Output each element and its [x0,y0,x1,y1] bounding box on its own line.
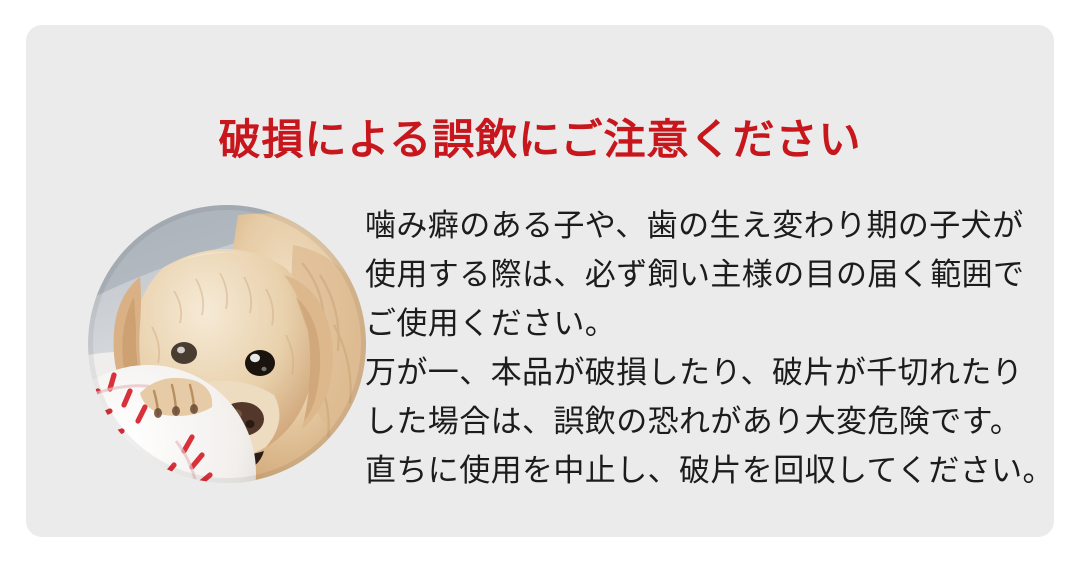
notice-line: 使用する際は、必ず飼い主様の目の届く範囲で [365,250,1030,299]
notice-card: 破損による誤飲にご注意ください [26,25,1054,537]
notice-body-text: 噛み癖のある子や、歯の生え変わり期の子犬が 使用する際は、必ず飼い主様の目の届く… [365,201,1030,495]
dog-photo-circle [88,205,366,483]
dog-photo-illustration [88,205,366,483]
notice-paragraph-1: 噛み癖のある子や、歯の生え変わり期の子犬が 使用する際は、必ず飼い主様の目の届く… [365,201,1030,348]
notice-line: 直ちに使用を中止し、破片を回収してください。 [365,446,1030,495]
notice-line: 噛み癖のある子や、歯の生え変わり期の子犬が [365,201,1030,250]
page-title: 破損による誤飲にご注意ください [26,115,1054,167]
notice-line: した場合は、誤飲の恐れがあり大変危険です。 [365,397,1030,446]
notice-line: 万が一、本品が破損したり、破片が千切れたり [365,348,1030,397]
notice-line: ご使用ください。 [365,299,1030,348]
notice-page: 破損による誤飲にご注意ください [0,0,1080,562]
notice-paragraph-2: 万が一、本品が破損したり、破片が千切れたり した場合は、誤飲の恐れがあり大変危険… [365,348,1030,495]
